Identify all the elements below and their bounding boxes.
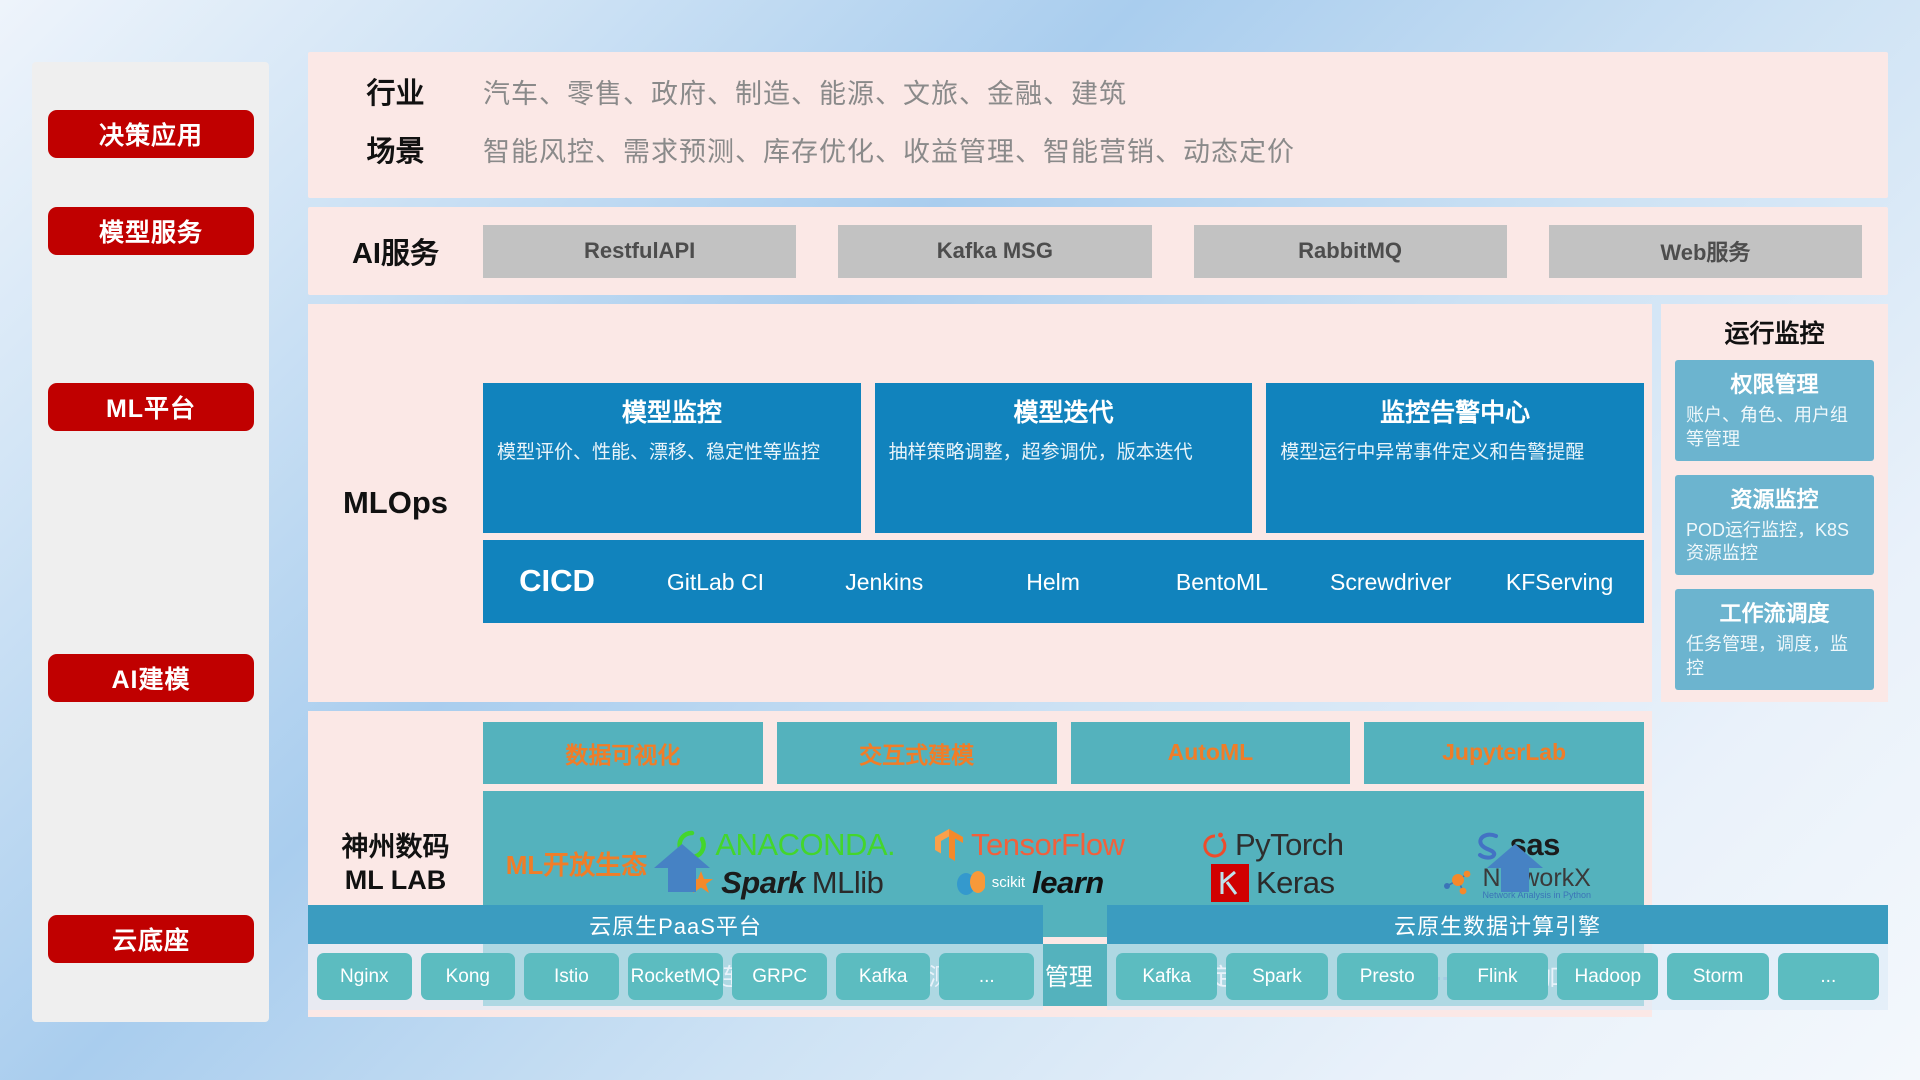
- cloud-chip-kafka[interactable]: Kafka: [836, 953, 931, 1000]
- cicd-title: CICD: [483, 563, 631, 599]
- cicd-item-jenkins[interactable]: Jenkins: [800, 568, 969, 594]
- row-ml-platform: MLOps 模型监控 模型评价、性能、漂移、稳定性等监控 模型迭代 抽样策略调整…: [308, 304, 1888, 702]
- rail-item-label: 云底座: [112, 921, 190, 957]
- ai-service-key: AI服务: [308, 230, 483, 272]
- cloud-panel-paas: 云原生PaaS平台 Nginx Kong Istio RocketMQ GRPC…: [308, 905, 1043, 1010]
- card-title: 监控告警中心: [1280, 393, 1630, 429]
- logo-tensorflow: TensorFlow: [934, 827, 1125, 863]
- cloud-paas-title: 云原生PaaS平台: [308, 905, 1043, 944]
- scenario-row: 场景 智能风控、需求预测、库存优化、收益管理、智能营销、动态定价: [308, 128, 1888, 170]
- cloud-foundation-zone: 云原生PaaS平台 Nginx Kong Istio RocketMQ GRPC…: [308, 892, 1888, 1032]
- card-desc: 模型评价、性能、漂移、稳定性等监控: [497, 440, 847, 466]
- scenario-value: 智能风控、需求预测、库存优化、收益管理、智能营销、动态定价: [483, 130, 1295, 169]
- service-box-restfulapi[interactable]: RestfulAPI: [483, 225, 796, 278]
- monitor-card-resources[interactable]: 资源监控 POD运行监控，K8S资源监控: [1675, 475, 1874, 576]
- cloud-chip-rocketmq[interactable]: RocketMQ: [628, 953, 724, 1000]
- up-arrow-paas-icon: [654, 844, 710, 892]
- ml-lab-key-line1: 神州数码: [308, 831, 483, 864]
- layer-rail: 决策应用 模型服务 ML平台 AI建模 云底座: [32, 62, 269, 1022]
- cicd-item-bentoml[interactable]: BentoML: [1137, 568, 1306, 594]
- logo-label: TensorFlow: [971, 827, 1125, 863]
- mlops-body: 模型监控 模型评价、性能、漂移、稳定性等监控 模型迭代 抽样策略调整，超参调优，…: [483, 383, 1652, 623]
- cloud-chip-spark[interactable]: Spark: [1226, 953, 1327, 1000]
- rail-item-decision-apps[interactable]: 决策应用: [48, 110, 254, 158]
- tensorflow-icon: [934, 828, 964, 862]
- mlops-card-model-monitoring[interactable]: 模型监控 模型评价、性能、漂移、稳定性等监控: [483, 383, 861, 533]
- ml-ecosystem-label: ML开放生态: [489, 845, 664, 882]
- card-desc: 抽样策略调整，超参调优，版本迭代: [889, 440, 1239, 466]
- rail-item-ml-platform[interactable]: ML平台: [48, 383, 254, 431]
- industry-row: 行业 汽车、零售、政府、制造、能源、文旅、金融、建筑: [308, 70, 1888, 112]
- service-box-web[interactable]: Web服务: [1549, 225, 1862, 278]
- cicd-item-kfserving[interactable]: KFServing: [1475, 568, 1644, 594]
- logo-pytorch: PyTorch: [1202, 827, 1343, 863]
- cloud-data-engine-title: 云原生数据计算引擎: [1107, 905, 1888, 944]
- rail-item-label: 模型服务: [99, 213, 203, 249]
- cloud-chip-kong[interactable]: Kong: [421, 953, 516, 1000]
- tool-box-data-visualization[interactable]: 数据可视化: [483, 722, 763, 784]
- cloud-chip-nginx[interactable]: Nginx: [317, 953, 412, 1000]
- cicd-bar: CICD GitLab CI Jenkins Helm BentoML Scre…: [483, 540, 1644, 623]
- mlops-card-group: 模型监控 模型评价、性能、漂移、稳定性等监控 模型迭代 抽样策略调整，超参调优，…: [483, 383, 1644, 533]
- monitor-card-workflow[interactable]: 工作流调度 任务管理，调度，监控: [1675, 589, 1874, 690]
- industry-value: 汽车、零售、政府、制造、能源、文旅、金融、建筑: [483, 72, 1127, 111]
- rail-item-label: ML平台: [106, 389, 196, 425]
- monitor-card-permissions[interactable]: 权限管理 账户、角色、用户组等管理: [1675, 360, 1874, 461]
- service-box-rabbitmq[interactable]: RabbitMQ: [1194, 225, 1507, 278]
- logo-prefix: scikit: [992, 874, 1025, 891]
- ml-lab-key: 神州数码 ML LAB: [308, 831, 483, 897]
- cloud-chip-more-data[interactable]: ...: [1778, 953, 1879, 1000]
- cloud-chip-kafka-data[interactable]: Kafka: [1116, 953, 1217, 1000]
- band-ai-services: AI服务 RestfulAPI Kafka MSG RabbitMQ Web服务: [308, 207, 1888, 295]
- cloud-panel-data-engine: 云原生数据计算引擎 Kafka Spark Presto Flink Hadoo…: [1107, 905, 1888, 1010]
- scenario-key: 场景: [308, 128, 483, 170]
- cloud-chip-more[interactable]: ...: [939, 953, 1034, 1000]
- tool-box-group: 数据可视化 交互式建模 AutoML JupyterLab: [483, 722, 1644, 784]
- cicd-item-group: GitLab CI Jenkins Helm BentoML Screwdriv…: [631, 568, 1644, 594]
- up-arrow-data-engine-icon: [1487, 844, 1543, 892]
- card-title: 资源监控: [1686, 482, 1863, 514]
- card-title: 模型迭代: [889, 393, 1239, 429]
- cicd-item-screwdriver[interactable]: Screwdriver: [1306, 568, 1475, 594]
- cloud-chip-istio[interactable]: Istio: [524, 953, 619, 1000]
- cloud-chip-presto[interactable]: Presto: [1337, 953, 1438, 1000]
- ai-service-box-group: RestfulAPI Kafka MSG RabbitMQ Web服务: [483, 225, 1888, 278]
- card-title: 工作流调度: [1686, 596, 1863, 628]
- logo-label: ANACONDA.: [715, 827, 895, 863]
- industry-key: 行业: [308, 70, 483, 112]
- cicd-item-gitlab-ci[interactable]: GitLab CI: [631, 568, 800, 594]
- card-title: 权限管理: [1686, 367, 1863, 399]
- card-desc: 模型运行中异常事件定义和告警提醒: [1280, 440, 1630, 466]
- rail-item-model-service[interactable]: 模型服务: [48, 207, 254, 255]
- monitor-title: 运行监控: [1675, 314, 1874, 350]
- mlops-card-alert-center[interactable]: 监控告警中心 模型运行中异常事件定义和告警提醒: [1266, 383, 1644, 533]
- cloud-paas-chip-group: Nginx Kong Istio RocketMQ GRPC Kafka ...: [308, 944, 1043, 1000]
- card-desc: POD运行监控，K8S资源监控: [1686, 519, 1863, 567]
- logo-label: PyTorch: [1235, 827, 1343, 863]
- service-box-kafka-msg[interactable]: Kafka MSG: [838, 225, 1151, 278]
- cloud-chip-grpc[interactable]: GRPC: [732, 953, 827, 1000]
- rail-item-label: AI建模: [111, 660, 190, 696]
- architecture-main-column: 行业 汽车、零售、政府、制造、能源、文旅、金融、建筑 场景 智能风控、需求预测、…: [308, 52, 1888, 1017]
- rail-item-label: 决策应用: [99, 116, 203, 152]
- cicd-item-helm[interactable]: Helm: [969, 568, 1138, 594]
- band-runtime-monitoring: 运行监控 权限管理 账户、角色、用户组等管理 资源监控 POD运行监控，K8S资…: [1661, 304, 1888, 702]
- cloud-chip-hadoop[interactable]: Hadoop: [1557, 953, 1658, 1000]
- card-title: 模型监控: [497, 393, 847, 429]
- tool-box-jupyterlab[interactable]: JupyterLab: [1364, 722, 1644, 784]
- card-desc: 账户、角色、用户组等管理: [1686, 404, 1863, 452]
- pytorch-icon: [1202, 829, 1228, 861]
- cloud-data-engine-chip-group: Kafka Spark Presto Flink Hadoop Storm ..…: [1107, 944, 1888, 1000]
- mlops-card-model-iteration[interactable]: 模型迭代 抽样策略调整，超参调优，版本迭代: [875, 383, 1253, 533]
- tool-box-interactive-modeling[interactable]: 交互式建模: [777, 722, 1057, 784]
- tool-box-automl[interactable]: AutoML: [1071, 722, 1351, 784]
- band-decision-apps: 行业 汽车、零售、政府、制造、能源、文旅、金融、建筑 场景 智能风控、需求预测、…: [308, 52, 1888, 198]
- band-mlops: MLOps 模型监控 模型评价、性能、漂移、稳定性等监控 模型迭代 抽样策略调整…: [308, 304, 1652, 702]
- rail-item-cloud-base[interactable]: 云底座: [48, 915, 254, 963]
- cloud-chip-flink[interactable]: Flink: [1447, 953, 1548, 1000]
- cloud-chip-storm[interactable]: Storm: [1667, 953, 1768, 1000]
- card-desc: 任务管理，调度，监控: [1686, 633, 1863, 681]
- mlops-key: MLOps: [308, 485, 483, 521]
- rail-item-ai-modeling[interactable]: AI建模: [48, 654, 254, 702]
